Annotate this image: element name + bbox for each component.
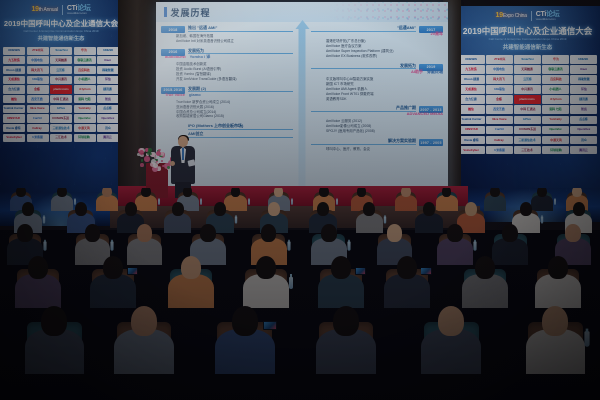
attendee-phone-screen (355, 268, 366, 275)
sponsor-logo-label: VoiceCyber (464, 149, 479, 152)
sponsor-logo: 中科 汇通达 (514, 105, 541, 114)
flower-blossom (148, 148, 152, 152)
audience-member-head (85, 224, 101, 242)
timeline-partner-logo: True Voice (165, 93, 185, 97)
sponsor-logo: ONEWIS (458, 55, 485, 64)
audience-member-head (200, 224, 216, 242)
audience-member-torso (462, 274, 508, 309)
sponsor-logo-label: OpenVox (78, 117, 90, 120)
audience-member-head (256, 256, 276, 279)
sponsor-logo-label: Rasta 睿特 (464, 139, 478, 142)
timeline-entry-logos: ADVANCED MEDIA (311, 112, 443, 116)
timeline-bullet-list: 中国金融技术创新奖投资 Audio Burst (AI语音引擎)投资 Yomho… (161, 62, 293, 82)
slide-title-accent (164, 7, 167, 17)
sponsor-logo-label: 科大讯飞 (32, 69, 43, 72)
timeline-bullet: 开发 AmiVoice TransGuide (多语言翻译) (173, 77, 293, 82)
timeline-event-title: 解决方案实验期 (311, 139, 416, 145)
sponsor-logo: 中兴通讯 (514, 85, 541, 94)
audience-member-torso (484, 195, 506, 212)
speaker-tie (182, 148, 184, 160)
sponsor-logo: Rioon 捷通 (458, 75, 485, 84)
ctiforum-logo: CTi论坛 www.ctiforum.com (536, 11, 560, 21)
audience-member-torso (492, 238, 528, 265)
sponsor-logo: 腾讯云 (570, 146, 597, 155)
audience-member-head (141, 188, 151, 197)
sponsor-logo: 捷讯通 (570, 95, 597, 104)
sponsor-logo: 金蝶 (27, 85, 49, 93)
audience-member-head (22, 202, 34, 216)
sponsor-logo-label: plantronics (520, 98, 535, 101)
audience-member-head (331, 256, 351, 279)
audience-member-head (423, 202, 435, 216)
sponsor-logo: 环球易购 (74, 134, 96, 142)
sponsor-logo-label: iFlyCom (550, 98, 561, 101)
flower-blossom (141, 159, 144, 162)
audience-member-head (231, 188, 241, 197)
sponsor-logo-label: Rioon 捷通 (7, 69, 22, 72)
audience-member-head (475, 256, 495, 279)
audience-member-head (75, 202, 87, 216)
audience-member-torso (164, 213, 192, 234)
sponsor-logo-label: 思科 七陌 (78, 98, 90, 101)
sponsor-logo-label: iFlyCom (79, 88, 90, 91)
water-bottle (200, 199, 202, 205)
timeline-partner-logo: AI助手 (411, 70, 423, 74)
sponsor-logo-label: 捷讯通 (579, 98, 588, 101)
audience-member-head (57, 188, 67, 197)
sponsor-logo-wall-left: ONEWISZTE中兴SmartVoi华为UDESK九五智造中国电信天润融通容联… (0, 47, 122, 142)
sponsor-logo: 中科 汇通达 (50, 95, 72, 103)
flower-blossom (161, 160, 163, 162)
audience-member-head (548, 256, 568, 279)
audience-member-head (102, 188, 112, 197)
logo-divider (531, 11, 532, 21)
timeline-entry-logos: True Voiceglamo (161, 93, 293, 97)
sponsor-logo-label: 得助智能 (578, 78, 589, 81)
timeline-partner-logo: glamo (189, 93, 201, 97)
sponsor-logo: 天成通信 (458, 85, 485, 94)
sponsor-logo-label: 云沃客 (57, 69, 66, 72)
sponsor-logo: 智齿 (570, 105, 597, 114)
sponsor-logo-label: ONEWIS (466, 58, 478, 61)
timeline-event-title: 发展拓为 (311, 64, 416, 70)
sponsor-logo-label: Callray (33, 127, 43, 130)
sponsor-logo-label: 三汇技术 (55, 136, 66, 139)
audience-member-torso (96, 195, 118, 212)
sponsor-logo-label: 合力亿捷 (8, 88, 19, 91)
sponsor-logo: 西安艺鼎 (27, 95, 49, 103)
sponsor-logo-label: 中科 汇通达 (53, 98, 68, 101)
banner-title-en: Call Center & Enterprise Communication E… (455, 38, 600, 41)
timeline-partner-logo: audioburst (165, 55, 186, 59)
timeline-column-right: "远通AMi"201720周年香港在场开拓(广东总分聚)AmiVoice 医疗会… (303, 26, 443, 192)
sponsor-logo-label: Nice Voice (492, 118, 506, 121)
sponsor-logo-label: UIH联信 (32, 78, 43, 81)
sponsor-logo-label: 华为 (553, 58, 559, 61)
sponsor-logo: VoiceCyber (458, 146, 485, 155)
sponsor-logo: 三汇技术 (50, 134, 72, 142)
water-bottle (384, 217, 386, 224)
sponsor-logo: Nice Voice (486, 116, 513, 125)
audience-member-head (268, 202, 280, 216)
audience-member-head (181, 256, 201, 279)
sponsor-logo: 九五智造 (3, 56, 25, 64)
timeline-bullet: AmiVoice Intl 对米英语音识别公司成立 (173, 39, 293, 44)
sponsor-logo-label: Xiaoi (580, 68, 587, 71)
sponsor-logo-label: 中通天鸿 (79, 127, 90, 130)
sponsor-logo-label: 西安艺鼎 (32, 98, 43, 101)
audience-member-head (542, 306, 568, 336)
banner-title-cn: 2019中国呼叫中心及企业通信大会 (455, 27, 600, 36)
sponsor-logo: DINSTAR (458, 126, 485, 135)
audience-member-torso (436, 195, 458, 212)
audience-member-torso (384, 274, 430, 309)
water-bottle (287, 241, 290, 250)
sponsor-logo: 得助智能 (97, 66, 119, 74)
banner-title-cn: 2019中国呼叫中心及企业通信大会 (0, 20, 122, 28)
audience-member-head (363, 202, 375, 216)
sponsor-logo-label: UDESK (579, 58, 589, 61)
sponsor-logo-label: Rasta 睿特 (7, 127, 21, 130)
sponsor-logo: plantronics (50, 85, 72, 93)
sponsor-logo: UDESK (570, 55, 597, 64)
sponsor-logo-label: 小i机器人 (78, 78, 90, 81)
sponsor-logo-label: 环球易购 (550, 149, 561, 152)
timeline-bullet-list: 香港在场开拓(广东总分聚)AmiVoice 医疗会议方案AmiVoice Sup… (311, 39, 443, 59)
timeline-event-title: IPO (Mothers 上市创业板市场) (188, 124, 293, 130)
sponsor-logo-label: 华为 (82, 49, 88, 52)
sponsor-logo: VoiceCyber (3, 134, 25, 142)
sponsor-logo: 点点客 (570, 116, 597, 125)
sponsor-logo: 百应科技 (542, 75, 569, 84)
sponsor-logo: OpenVox (74, 114, 96, 122)
timeline-partner-logo: ADVANCED MEDIA (407, 112, 443, 116)
water-bottle (540, 217, 542, 224)
sponsor-logo: Yealink Carrier (458, 116, 485, 125)
timeline-event-title: 推出 "远通 AMi" (188, 26, 293, 32)
expo-anniversary-logo: 19th Annual (31, 6, 57, 13)
flower-blossom (151, 159, 156, 164)
sponsor-logo-label: 腾讯云 (579, 149, 588, 152)
audience-member-torso (415, 213, 443, 234)
audience-member-torso (437, 238, 473, 265)
audience-member-torso (531, 195, 553, 212)
sponsor-logo: OpenFlex (570, 126, 597, 135)
sponsor-logo-label: EPlus (57, 107, 65, 110)
sponsor-logo-label: YunCatty (78, 107, 90, 110)
timeline-partner-logo: 20周年 (431, 32, 443, 36)
sponsor-logo: OpenVox (542, 126, 569, 135)
sponsor-logo-label: 讯众 (105, 127, 111, 130)
sponsor-logo-label: 容联云通讯 (548, 68, 562, 71)
audience-member-head (357, 188, 367, 197)
sponsor-logo: 思科 七陌 (542, 105, 569, 114)
timeline-entry-logos: audioburstYomho / 译 (161, 55, 293, 59)
sponsor-logo-wall-right: ONEWISZTE中兴SmartVoi华为UDESK九五智造中国电信天润融通容联… (455, 55, 600, 154)
flower-blossom (167, 166, 170, 169)
timeline-event-title: AMi创立 (188, 132, 293, 138)
flower-blossom (157, 166, 161, 170)
sponsor-logo-label: 西安艺鼎 (494, 108, 505, 111)
water-bottle (289, 277, 293, 289)
audience-member-torso (90, 274, 136, 309)
sponsor-logo-label: 环信 (105, 78, 111, 81)
sponsor-logo: plantronics (514, 95, 541, 104)
sponsor-logo: 天润融通 (50, 56, 72, 64)
sponsor-logo-label: 百应科技 (79, 69, 90, 72)
sponsor-logo-label: 天成通信 (466, 88, 477, 91)
sponsor-logo-label: Nice Voice (30, 107, 44, 110)
timeline-bullet-list: 新加坡、韩国在海外拓展AmiVoice Intl 对米英语音识别公司成立 (161, 34, 293, 44)
audience-member-torso (395, 195, 417, 212)
timeline-bullet-list: 呼叫中心、医疗、教育、会议 (311, 147, 443, 152)
timeline-event-title: "远通AMi" (311, 26, 416, 32)
sponsor-logo-label: OpenFlex (101, 117, 114, 120)
sponsor-logo-label: DONJIN东进 (53, 117, 69, 120)
sponsor-logo: 融信 (458, 105, 485, 114)
sponsor-logo-label: 三汇技术 (522, 149, 533, 152)
sponsor-logo: Rasta 睿特 (3, 124, 25, 132)
water-bottle (473, 241, 476, 250)
sponsor-logo: DONJIN东进 (514, 126, 541, 135)
sponsor-logo: 中兴通讯 (50, 76, 72, 84)
audience-member-torso (51, 195, 73, 212)
audience-member-head (103, 256, 123, 279)
sponsor-logo: SmartVoi (514, 55, 541, 64)
sponsor-logo-label: 合力亿捷 (466, 98, 477, 101)
sponsor-logo: 科大讯飞 (486, 75, 513, 84)
timeline-partner-logo: 穿戴终端 (427, 70, 443, 74)
sponsor-logo-label: 中兴通讯 (522, 88, 533, 91)
sponsor-logo: DINSTAR (3, 114, 25, 122)
timeline-bullet: 英语教育SDK (323, 97, 443, 102)
timeline-entry: IPO (Mothers 上市创业板市场) (161, 124, 293, 131)
sponsor-logo: 容联云通讯 (542, 65, 569, 74)
sponsor-logo: EPlus (50, 105, 72, 113)
sponsor-logo-label: U米客服 (494, 149, 505, 152)
sponsor-logo: 三星通信技术 (50, 124, 72, 132)
water-bottle (554, 199, 556, 205)
timeline-bullet-list: 中文版呼叫中心AI智能方案实施新国 ICT 市场研究AmiVoice AMi A… (311, 77, 443, 102)
flower-blossom (140, 163, 144, 167)
water-bottle (248, 199, 250, 205)
ctiforum-logo: CTi论坛 www.ctiforum.com (67, 5, 91, 15)
sponsor-logo-label: 点点客 (104, 107, 113, 110)
speaker-head (178, 136, 188, 147)
audience-member-torso (356, 213, 384, 234)
sponsor-logo-label: ZTE中兴 (494, 58, 505, 61)
audience-member-head (502, 224, 518, 242)
sponsor-logo: iFlyCom (542, 95, 569, 104)
sponsor-logo-label: UIH联信 (494, 88, 505, 91)
audience-member-head (17, 224, 33, 242)
sponsor-logo: FanVil (27, 114, 49, 122)
expo-anniversary-logo: 19Expo China (496, 12, 527, 19)
attendee-phone-screen (421, 268, 432, 275)
sponsor-logo: 华为 (74, 47, 96, 55)
sponsor-logo: 三汇技术 (514, 146, 541, 155)
sponsor-logo: U米客服 (27, 134, 49, 142)
sponsor-logo: 中国电信 (27, 56, 49, 64)
sponsor-logo: 小i机器人 (542, 85, 569, 94)
audience-member-torso (535, 274, 581, 309)
sponsor-logo: 融信 (3, 95, 25, 103)
sponsor-logo: FanVil (486, 126, 513, 135)
sponsor-logo: 合力亿捷 (458, 95, 485, 104)
timeline-event-title: 产品推广期 (311, 106, 416, 112)
sponsor-logo-label: 小i机器人 (549, 88, 561, 91)
sponsor-logo-label: 云沃客 (523, 78, 532, 81)
banner-title-en: Call Center & Enterprise Communication E… (0, 30, 122, 33)
sponsor-logo-label: Callray (495, 139, 505, 142)
sponsor-logo: 小i机器人 (74, 76, 96, 84)
sponsor-logo: UDESK (97, 47, 119, 55)
sponsor-logo-label: U米客服 (32, 136, 43, 139)
sponsor-logo-label: 天润融通 (55, 59, 66, 62)
audience-member-head (520, 202, 532, 216)
audience-member-head (438, 306, 464, 336)
sponsor-logo-label: 九五智造 (8, 59, 19, 62)
audience-member-head (131, 306, 157, 336)
timeline-entry: 解决方案实验期1997 - 2005 (311, 139, 443, 146)
timeline-bullet-list: AmiVoice 云服务 (2012)AmiVoice影像公司成立 (2008)… (311, 119, 443, 134)
audience-member-torso (168, 274, 214, 309)
sponsor-logo-label: 智齿 (105, 98, 111, 101)
sponsor-logo: Yealink Carrier (3, 105, 25, 113)
sponsor-logo: 腾讯云 (97, 134, 119, 142)
sponsor-logo-label: SmartVoi (521, 58, 533, 61)
sponsor-logo-label: 中国电信 (32, 59, 43, 62)
sponsor-logo-label: 容联云通讯 (77, 59, 91, 62)
logo-divider (62, 5, 63, 15)
sponsor-logo: 思科 七陌 (74, 95, 96, 103)
sponsor-logo: 环球易购 (542, 146, 569, 155)
sponsor-logo-label: FanVil (495, 129, 504, 132)
audience-member-torso (224, 195, 246, 212)
water-bottle (234, 217, 236, 224)
sponsor-logo-label: 智齿 (581, 108, 587, 111)
sponsor-logo: Xiaoi (570, 65, 597, 74)
audience-member-head (16, 188, 26, 197)
sponsor-logo: 三星通信技术 (514, 136, 541, 145)
sponsor-logo-label: plantronics (53, 88, 68, 91)
sponsor-logo-label: 得助智能 (102, 69, 113, 72)
water-bottle (336, 199, 338, 205)
sponsor-logo-label: 金蝶 (35, 88, 41, 91)
audience-member-torso (421, 329, 481, 374)
sponsor-logo-label: 金蝶 (497, 98, 503, 101)
sponsor-logo: OpenFlex (97, 114, 119, 122)
audience-member-torso (15, 274, 61, 309)
attendee-phone-screen (127, 268, 138, 275)
sponsor-logo-label: 天润融通 (522, 68, 533, 71)
timeline-bullet: AmiVoice EX Business (软件视界) (323, 54, 443, 59)
timeline-bullet: 收购智能家居公司Glamo (2015) (173, 114, 293, 119)
sponsor-logo: DONJIN东进 (50, 114, 72, 122)
timeline-entry: 2018推出 "远通 AMi" (161, 26, 293, 33)
sponsor-logo: Callray (486, 136, 513, 145)
audience-member-head (125, 202, 137, 216)
sponsor-logo: YunCatty (74, 105, 96, 113)
banner-slogan: 共建智能通信新生态 (455, 46, 600, 52)
speaker-hand (170, 161, 175, 166)
sponsor-logo: UIH联信 (27, 76, 49, 84)
sponsor-logo: iFlyCom (74, 85, 96, 93)
audience-member-head (387, 224, 403, 242)
sponsor-logo: 科大讯飞 (27, 66, 49, 74)
conference-photo: 19th Annual CTi论坛 www.ctiforum.com 2019中… (0, 0, 600, 400)
sponsor-logo-label: 三星通信技术 (519, 139, 536, 142)
sponsor-logo-label: UDESK (103, 49, 113, 52)
sponsor-logo-label: ZTE中兴 (32, 49, 43, 52)
sponsor-logo: Nice Voice (27, 105, 49, 113)
audience-member-head (28, 256, 48, 279)
audience-member-head (397, 256, 417, 279)
audience-member-torso (135, 195, 157, 212)
sponsor-logo: Rioon 捷通 (3, 66, 25, 74)
sponsor-logo-label: SmartVoi (55, 49, 67, 52)
sponsor-logo: 云沃客 (50, 66, 72, 74)
audience-member-head (137, 224, 153, 242)
audience-member-head (319, 188, 329, 197)
audience-area (0, 188, 600, 400)
audience-member-head (172, 202, 184, 216)
sponsor-logo-label: Xiaoi (105, 59, 112, 62)
sponsor-logo: UIH联信 (486, 85, 513, 94)
water-bottle (111, 241, 114, 250)
sponsor-logo-label: 中兴通讯 (55, 78, 66, 81)
sponsor-logo-label: 环信 (581, 88, 587, 91)
sponsor-logo-label: Yealink Carrier (461, 118, 481, 121)
audience-member-head (232, 306, 258, 336)
sponsor-logo: Callray (27, 124, 49, 132)
slide-title: 发展历程 (171, 6, 211, 19)
audience-member-head (572, 188, 582, 197)
sponsor-logo: Xiaoi (97, 56, 119, 64)
sponsor-logo-label: YunCatty (549, 118, 561, 121)
sponsor-logo: 天润融通 (514, 65, 541, 74)
audience-member-head (537, 188, 547, 197)
sponsor-logo: 点点客 (97, 105, 119, 113)
sponsor-logo-label: VoiceCyber (6, 136, 21, 139)
sponsor-logo-label: 中科 汇通达 (520, 108, 535, 111)
sponsor-logo: 九五智造 (458, 65, 485, 74)
timeline-bullet: SPOJY (医用专用产品化) (2008) (323, 129, 443, 134)
sponsor-logo-label: 腾讯云 (104, 136, 113, 139)
sponsor-logo-label: 中通天鸿 (550, 139, 561, 142)
sponsor-logo-label: 三星通信技术 (52, 127, 69, 130)
sponsor-logo: SmartVoi (50, 47, 72, 55)
sponsor-logo-label: OpenVox (549, 129, 561, 132)
sponsor-logo: 华为 (542, 55, 569, 64)
sponsor-logo-label: 百应科技 (550, 78, 561, 81)
sponsor-logo-label: 讯众 (581, 139, 587, 142)
sponsor-logo-label: Rioon 捷通 (464, 78, 479, 81)
sponsor-logo-label: 融信 (468, 108, 474, 111)
audience-member-head (214, 202, 226, 216)
audience-member-head (41, 306, 67, 336)
projection-screen: 发展历程 2018推出 "远通 AMi"新加坡、韩国在海外拓展AmiVoice … (156, 2, 448, 206)
sponsor-logo-label: 环球易购 (79, 136, 90, 139)
sponsor-logo: YunCatty (542, 116, 569, 125)
timeline-bullet-list: TrueVoice 新罗合资公司成立 (2014)亚洲语音识别大赛 (2016)… (161, 100, 293, 120)
flower-blossom (144, 156, 150, 162)
sponsor-logo: 云沃客 (514, 75, 541, 84)
sponsor-logo: ZTE中兴 (27, 47, 49, 55)
sponsor-logo: 中通天鸿 (74, 124, 96, 132)
timeline-partner-logo: Yomho / 译 (190, 55, 211, 59)
water-bottle (158, 199, 160, 205)
